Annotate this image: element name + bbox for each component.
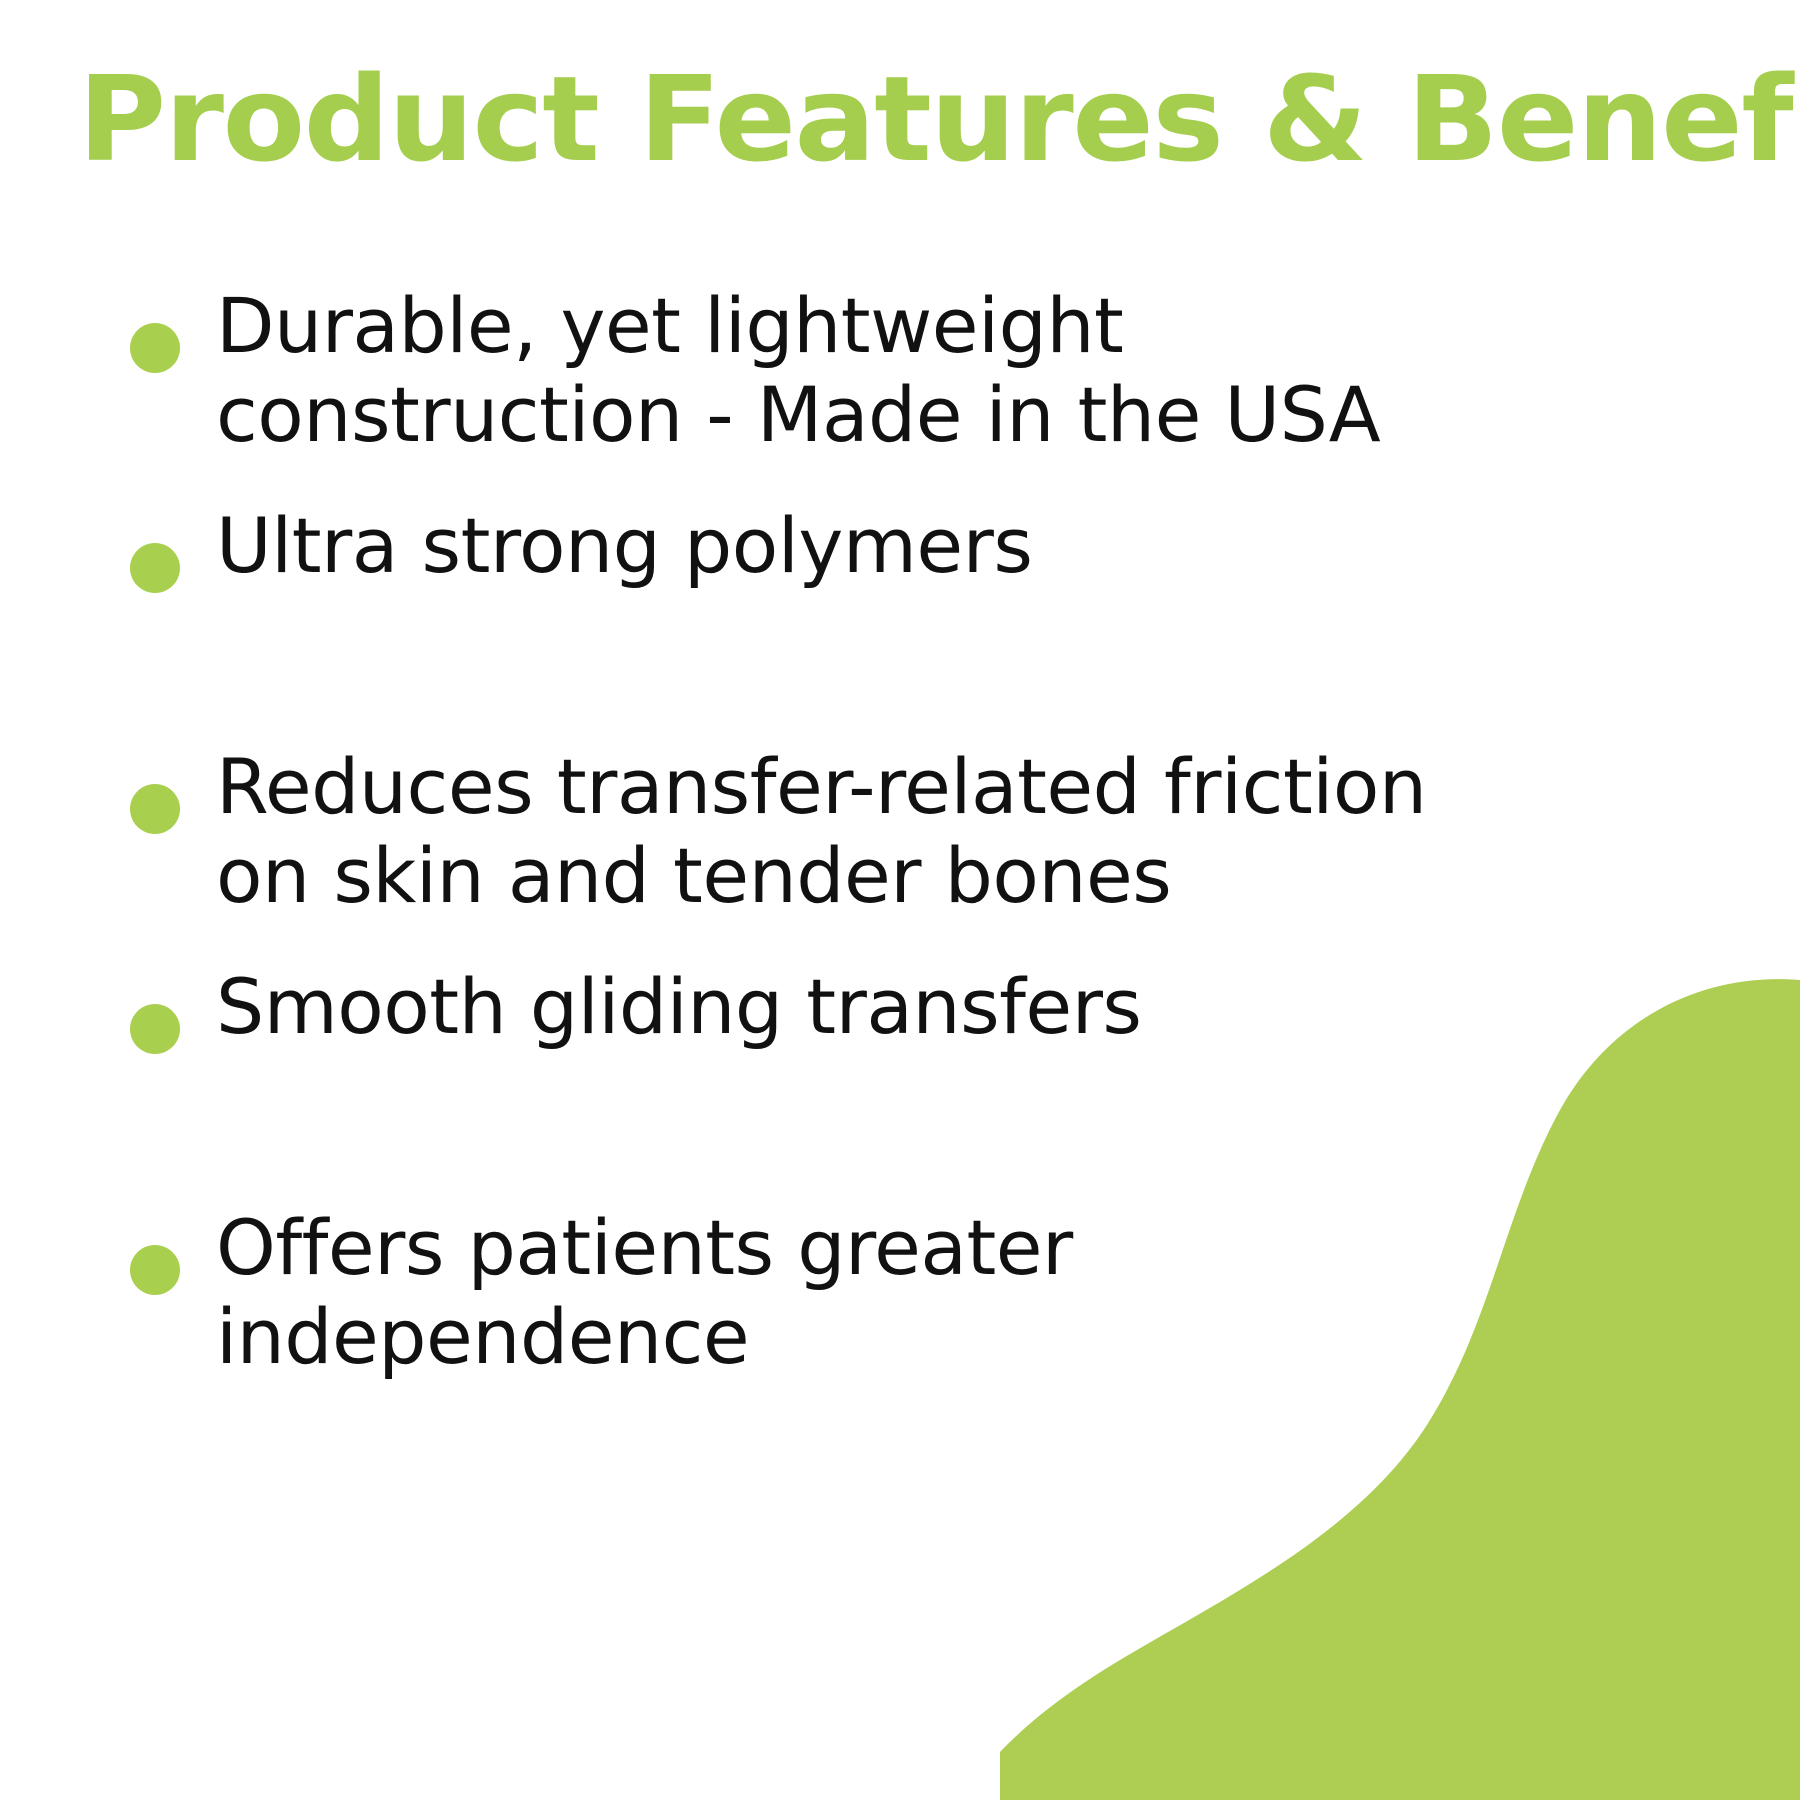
list-gap-1: [130, 460, 1690, 502]
feature-item-1-line-1: Durable, yet lightweight: [216, 282, 1690, 371]
bullet-dot-icon: [130, 323, 180, 373]
bullet-dot-icon: [130, 543, 180, 593]
feature-item-2-text: Ultra strong polymers: [216, 502, 1690, 591]
feature-item-3-line-1: Reduces transfer-related friction: [216, 743, 1690, 832]
feature-item-2: Ultra strong polymers: [130, 502, 1690, 593]
feature-item-1-line-2: construction - Made in the USA: [216, 371, 1690, 460]
list-gap-4: [130, 1054, 1690, 1204]
feature-item-4: Smooth gliding transfers: [130, 963, 1690, 1054]
feature-item-2-line-1: Ultra strong polymers: [216, 502, 1690, 591]
bullet-dot-icon: [130, 1245, 180, 1295]
feature-item-4-line-1: Smooth gliding transfers: [216, 963, 1690, 1052]
feature-item-5-line-1: Offers patients greater: [216, 1204, 1690, 1293]
page-title: Product Features & Benefits: [78, 58, 1761, 182]
list-gap-3: [130, 921, 1690, 963]
feature-item-3: Reduces transfer-related friction on ski…: [130, 743, 1690, 921]
bullet-dot-icon: [130, 1004, 180, 1054]
feature-item-3-text: Reduces transfer-related friction on ski…: [216, 743, 1690, 921]
slide-canvas: Product Features & Benefits Durable, yet…: [0, 0, 1800, 1800]
bullet-dot-icon: [130, 784, 180, 834]
feature-item-1-text: Durable, yet lightweight construction - …: [216, 282, 1690, 460]
feature-item-5: Offers patients greater independence: [130, 1204, 1690, 1382]
feature-item-3-line-2: on skin and tender bones: [216, 832, 1690, 921]
feature-list: Durable, yet lightweight construction - …: [130, 282, 1690, 1381]
feature-item-4-text: Smooth gliding transfers: [216, 963, 1690, 1052]
feature-item-5-text: Offers patients greater independence: [216, 1204, 1690, 1382]
list-gap-2: [130, 593, 1690, 743]
feature-item-5-line-2: independence: [216, 1293, 1690, 1382]
feature-item-1: Durable, yet lightweight construction - …: [130, 282, 1690, 460]
